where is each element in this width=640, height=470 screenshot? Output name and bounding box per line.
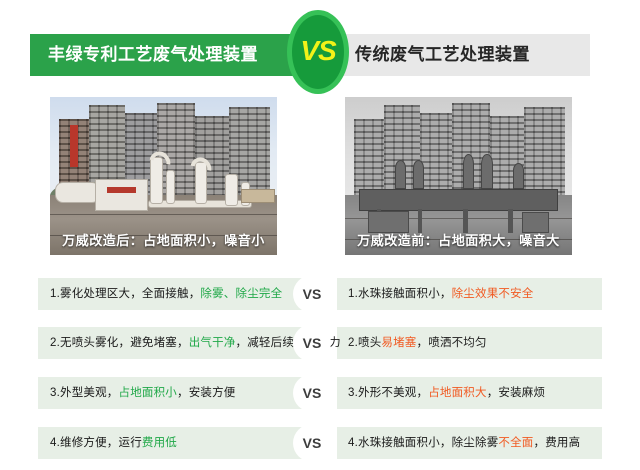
row-right-text: 3.外形不美观，占地面积大，安装麻烦 [348, 377, 545, 409]
text-run: 1.水珠接触面积小， [348, 288, 452, 300]
text-run: 2.喷头 [348, 337, 381, 349]
row-vs-label: VS [293, 275, 331, 313]
equipment-platform [359, 189, 559, 211]
header-left-title: 丰绿专利工艺废气处理装置 [48, 34, 278, 76]
equipment-sign [107, 187, 137, 193]
scrubber-column [225, 174, 239, 206]
exhaust-stack [463, 154, 474, 189]
text-run: 费用低 [142, 437, 177, 449]
row-right-text: 1.水珠接触面积小，除尘效果不安全 [348, 278, 534, 310]
row-left-text: 1.雾化处理区大，全面接触，除雾、除尘完全 [50, 278, 282, 310]
building-tower [420, 113, 452, 195]
text-run: 除雾、除尘完全 [200, 288, 282, 300]
text-run: 4.维修方便，运行 [50, 437, 142, 449]
comparison-rows: 1.雾化处理区大，全面接触，除雾、除尘完全 1.水珠接触面积小，除尘效果不安全 … [0, 272, 640, 470]
comparison-header: 丰绿专利工艺废气处理装置 传统废气工艺处理装置 VS [0, 0, 640, 96]
horizontal-tank [55, 182, 100, 203]
row-left-text: 4.维修方便，运行费用低 [50, 427, 177, 459]
equipment-housing [95, 179, 147, 211]
comparison-row: 3.外型美观，占地面积小，安装方便 3.外形不美观，占地面积大，安装麻烦 VS [38, 377, 602, 409]
exhaust-stack [513, 163, 524, 188]
row-right-text: 2.喷头易堵塞，喷洒不均匀 [348, 327, 487, 359]
scrubber-column [166, 170, 175, 205]
header-right-title: 传统废气工艺处理装置 [355, 34, 585, 76]
text-run: 3.外形不美观， [348, 387, 428, 399]
text-run: 出气干净 [189, 337, 236, 349]
row-vs-label: VS [293, 374, 331, 412]
text-run: 4.水珠接触面积小，除尘除雾 [348, 437, 498, 449]
exhaust-stack [413, 160, 424, 188]
text-run: ，费用高 [534, 437, 581, 449]
row-right-text: 4.水珠接触面积小，除尘除雾不全面，费用高 [348, 427, 580, 459]
text-run: ，喷洒不均匀 [417, 337, 487, 349]
text-run: 除尘效果不安全 [452, 288, 534, 300]
row-left-text: 3.外型美观，占地面积小，安装方便 [50, 377, 236, 409]
building-tower [354, 119, 384, 195]
comparison-row: 1.雾化处理区大，全面接触，除雾、除尘完全 1.水珠接触面积小，除尘效果不安全 … [38, 278, 602, 310]
row-vs-label: VS [293, 424, 331, 462]
text-run: 2.无喷头雾化，避免堵塞， [50, 337, 189, 349]
exhaust-stack [481, 154, 492, 189]
row-vs-label: VS [293, 324, 331, 362]
text-run: 占地面积小 [119, 387, 178, 399]
text-run: ，安装方便 [177, 387, 236, 399]
comparison-row: 2.无喷头雾化，避免堵塞，出气干净，减轻后续处理能力 2.喷头易堵塞，喷洒不均匀… [38, 327, 602, 359]
exhaust-stack [395, 160, 406, 188]
before-retrofit-photo: 万威改造前：占地面积大，噪音大 [345, 97, 572, 255]
ground-line [50, 214, 277, 215]
building-tower [524, 107, 565, 195]
roof-shed [241, 189, 275, 203]
text-run: 易堵塞 [381, 337, 416, 349]
text-run: 3.外型美观， [50, 387, 119, 399]
vertical-banner [70, 125, 78, 166]
text-run: ，安装麻烦 [487, 387, 546, 399]
comparison-row: 4.维修方便，运行费用低 4.水珠接触面积小，除尘除雾不全面，费用高 VS [38, 427, 602, 459]
after-retrofit-photo: 万威改造后：占地面积小，噪音小 [50, 97, 277, 255]
text-run: 1.雾化处理区大，全面接触， [50, 288, 200, 300]
photo-caption: 万威改造后：占地面积小，噪音小 [50, 230, 277, 249]
text-run: 占地面积大 [428, 387, 487, 399]
text-run: 不全面 [498, 437, 533, 449]
vs-badge: VS [287, 10, 349, 94]
vs-badge-label: VS [300, 37, 335, 65]
photo-caption: 万威改造前：占地面积大，噪音大 [345, 230, 572, 249]
